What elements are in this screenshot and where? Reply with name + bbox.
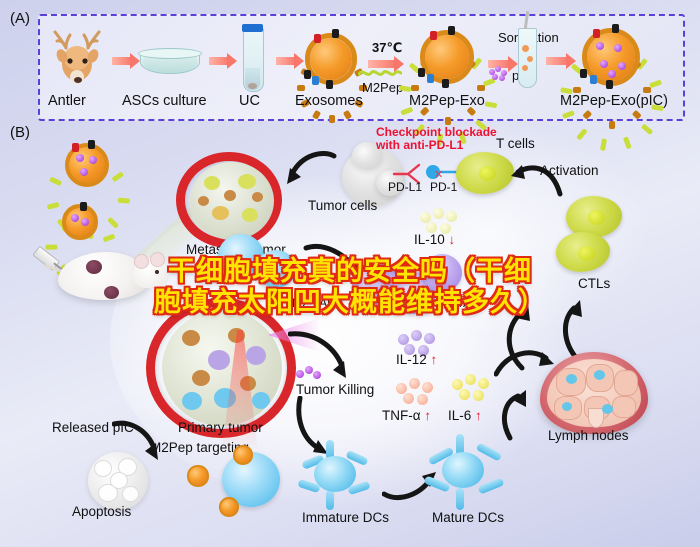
mouse-spot-1 xyxy=(86,260,102,274)
mouse-spot-2 xyxy=(104,286,119,299)
centrifuge-tube-icon xyxy=(243,28,264,92)
il-12-trend: ↑ xyxy=(431,352,438,367)
pic-dots-icon xyxy=(489,66,509,80)
tnf-alpha-dots xyxy=(396,378,442,406)
process-arrow-2 xyxy=(209,57,229,65)
label-pd-l1: PD-L1 xyxy=(388,180,422,194)
label-apoptosis: Released pIC xyxy=(52,420,134,435)
panel-a-label-m2pep-exo-pic: M2Pep-Exo(pIC) xyxy=(560,93,668,109)
free-exosome-icon-2 xyxy=(60,202,100,242)
m2-macrophage-icon-2 xyxy=(256,250,296,288)
deer-icon xyxy=(48,28,110,90)
mouse-ear-left xyxy=(134,254,149,269)
label-il-10: IL-10 ↓ xyxy=(414,232,455,247)
label-pd-1: PD-1 xyxy=(430,180,457,194)
panel-a-label-uc: UC xyxy=(239,93,260,109)
condition-temperature: 37℃ xyxy=(372,40,402,56)
process-arrow-1 xyxy=(112,57,132,65)
exosome-icon xyxy=(302,30,360,88)
targeting-exosome-icon-1 xyxy=(186,464,210,488)
label-immature-dcs: Immature DCs xyxy=(302,510,389,525)
label-t-cells: T cells xyxy=(496,136,535,151)
tnf-alpha-trend: ↑ xyxy=(424,408,431,423)
metastatic-tumor-mass xyxy=(190,162,274,240)
tnf-alpha-name: TNF-α xyxy=(382,408,421,423)
arrow-tumor-to-pic xyxy=(288,330,348,387)
panel-a-label-ascs: ASCs culture xyxy=(122,93,207,109)
label-tnf-alpha: TNF-α ↑ xyxy=(382,408,431,423)
targeting-exosome-icon-3 xyxy=(218,496,240,518)
arrow-to-tumor-cells xyxy=(284,150,338,197)
panel-a-tag: (A) xyxy=(10,10,30,27)
label-m2-tams: M2-TAMs xyxy=(292,296,343,310)
mouse-ear-right xyxy=(150,252,165,267)
loaded-exosome-icon xyxy=(578,24,644,90)
targeting-exosome-icon-2 xyxy=(232,444,254,466)
immature-dc-icon xyxy=(296,440,376,510)
label-tumor-killing: Apoptosis xyxy=(72,504,131,519)
label-il-12: IL-12 ↑ xyxy=(396,352,437,367)
panel-a-label-exosomes: Exosomes xyxy=(295,93,363,109)
panel-a-label-antler: Antler xyxy=(48,93,86,109)
il-6-trend: ↑ xyxy=(475,408,482,423)
checkpoint-note-line2: with anti-PD-L1 xyxy=(376,139,463,152)
petri-dish-icon xyxy=(140,52,200,74)
free-exosome-icon-1 xyxy=(62,140,112,190)
process-arrow-3 xyxy=(276,57,296,65)
mouse-eye xyxy=(155,270,159,274)
label-m1-tams: M1-TAMs xyxy=(436,296,487,310)
arrow-dc-to-lymph xyxy=(496,390,544,447)
label-mature-dcs: Mature DCs xyxy=(432,510,504,525)
label-activation: Activation xyxy=(540,163,599,178)
label-lymph-nodes: Lymph nodes xyxy=(548,428,629,443)
il-10-trend: ↓ xyxy=(449,232,456,247)
il-6-name: IL-6 xyxy=(448,408,471,423)
sonication-tube-icon xyxy=(518,28,537,88)
peptide-exosome-icon xyxy=(416,26,478,88)
label-primary-tumor: Primary tumor xyxy=(178,420,263,435)
panel-b-tag: (B) xyxy=(10,124,30,141)
process-arrow-6 xyxy=(546,57,568,65)
il-10-name: IL-10 xyxy=(414,232,445,247)
m1-macrophage-icon-3 xyxy=(422,254,462,292)
apoptotic-cell-icon xyxy=(88,452,148,510)
primary-tumor-mass xyxy=(162,310,282,426)
panel-a-label-m2pep-exo: M2Pep-Exo xyxy=(409,93,485,109)
label-ctls: CTLs xyxy=(578,276,610,291)
il-6-dots xyxy=(452,374,498,402)
condition-m2pep: M2Pep xyxy=(362,80,403,95)
figure-canvas: (A) Antler ASCs culture UC xyxy=(0,0,700,547)
il-12-name: IL-12 xyxy=(396,352,427,367)
label-il-6: IL-6 ↑ xyxy=(448,408,482,423)
label-tumor-cells: Tumor cells xyxy=(308,198,377,213)
